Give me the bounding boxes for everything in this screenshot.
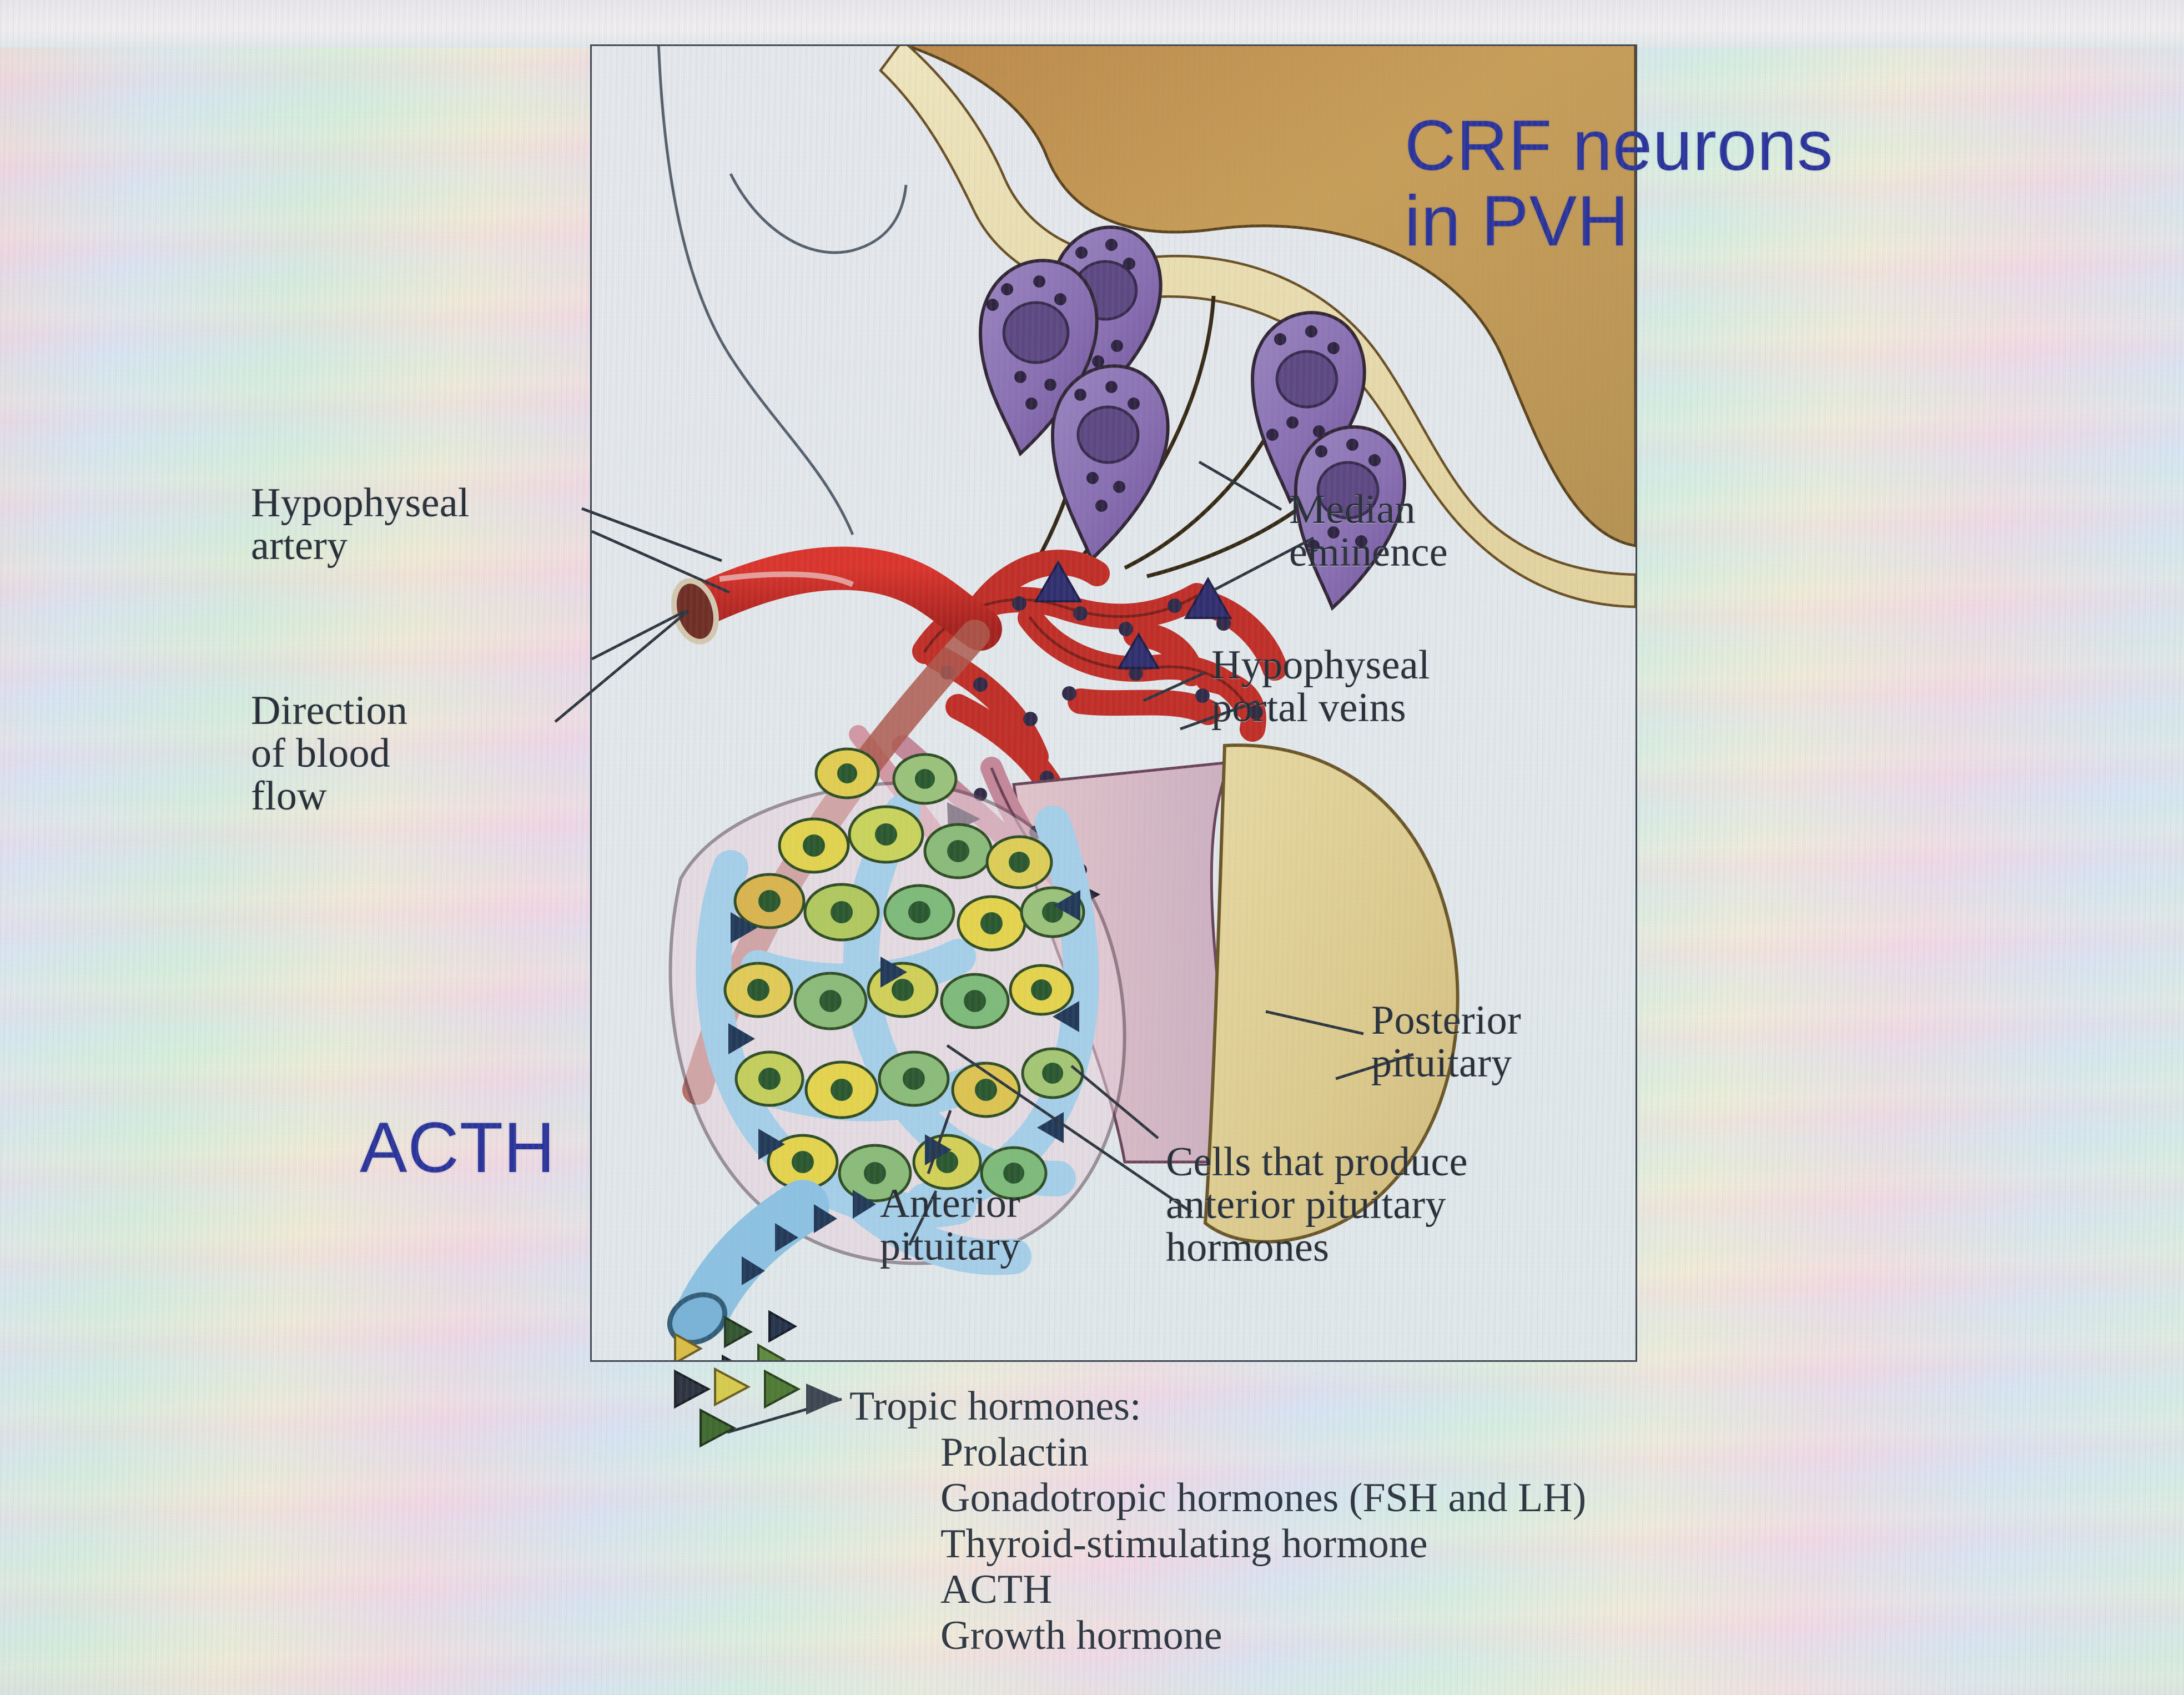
photo-top-strip [0, 0, 2184, 48]
label-median-eminence: Median eminence [1289, 489, 1448, 574]
label-hypophyseal-artery: Hypophyseal artery [251, 482, 470, 567]
label-anterior-pituitary: Anterior pituitary [880, 1183, 1020, 1268]
annotation-crf-neurons-in-pvh: CRF neurons in PVH [1405, 108, 1833, 259]
label-hypophyseal-portal-veins: Hypophyseal portal veins [1211, 644, 1430, 730]
tropic-hormone-item: Prolactin [940, 1430, 1586, 1476]
tropic-hormone-item: Growth hormone [940, 1613, 1586, 1659]
label-direction-of-blood-flow: Direction of blood flow [251, 690, 407, 818]
label-cells-that-produce-hormones: Cells that produce anterior pituitary ho… [1166, 1141, 1468, 1269]
annotation-acth: ACTH [360, 1110, 555, 1186]
screen-photograph: Hypophyseal artery Direction of blood fl… [0, 0, 2184, 1695]
tropic-hormone-item: Thyroid-stimulating hormone [940, 1521, 1586, 1567]
label-posterior-pituitary: Posterior pituitary [1371, 999, 1521, 1085]
tropic-hormone-item: Gonadotropic hormones (FSH and LH) [940, 1475, 1586, 1521]
leader-arrowhead-icon [806, 1384, 842, 1415]
tropic-hormones-list: Tropic hormones: Prolactin Gonadotropic … [849, 1384, 1586, 1658]
leader-tropic-hormones [727, 1399, 842, 1432]
tropic-hormone-item: ACTH [940, 1567, 1586, 1613]
tropic-hormone-marker-outside [675, 1369, 798, 1446]
tropic-hormones-heading: Tropic hormones: [849, 1384, 1586, 1430]
